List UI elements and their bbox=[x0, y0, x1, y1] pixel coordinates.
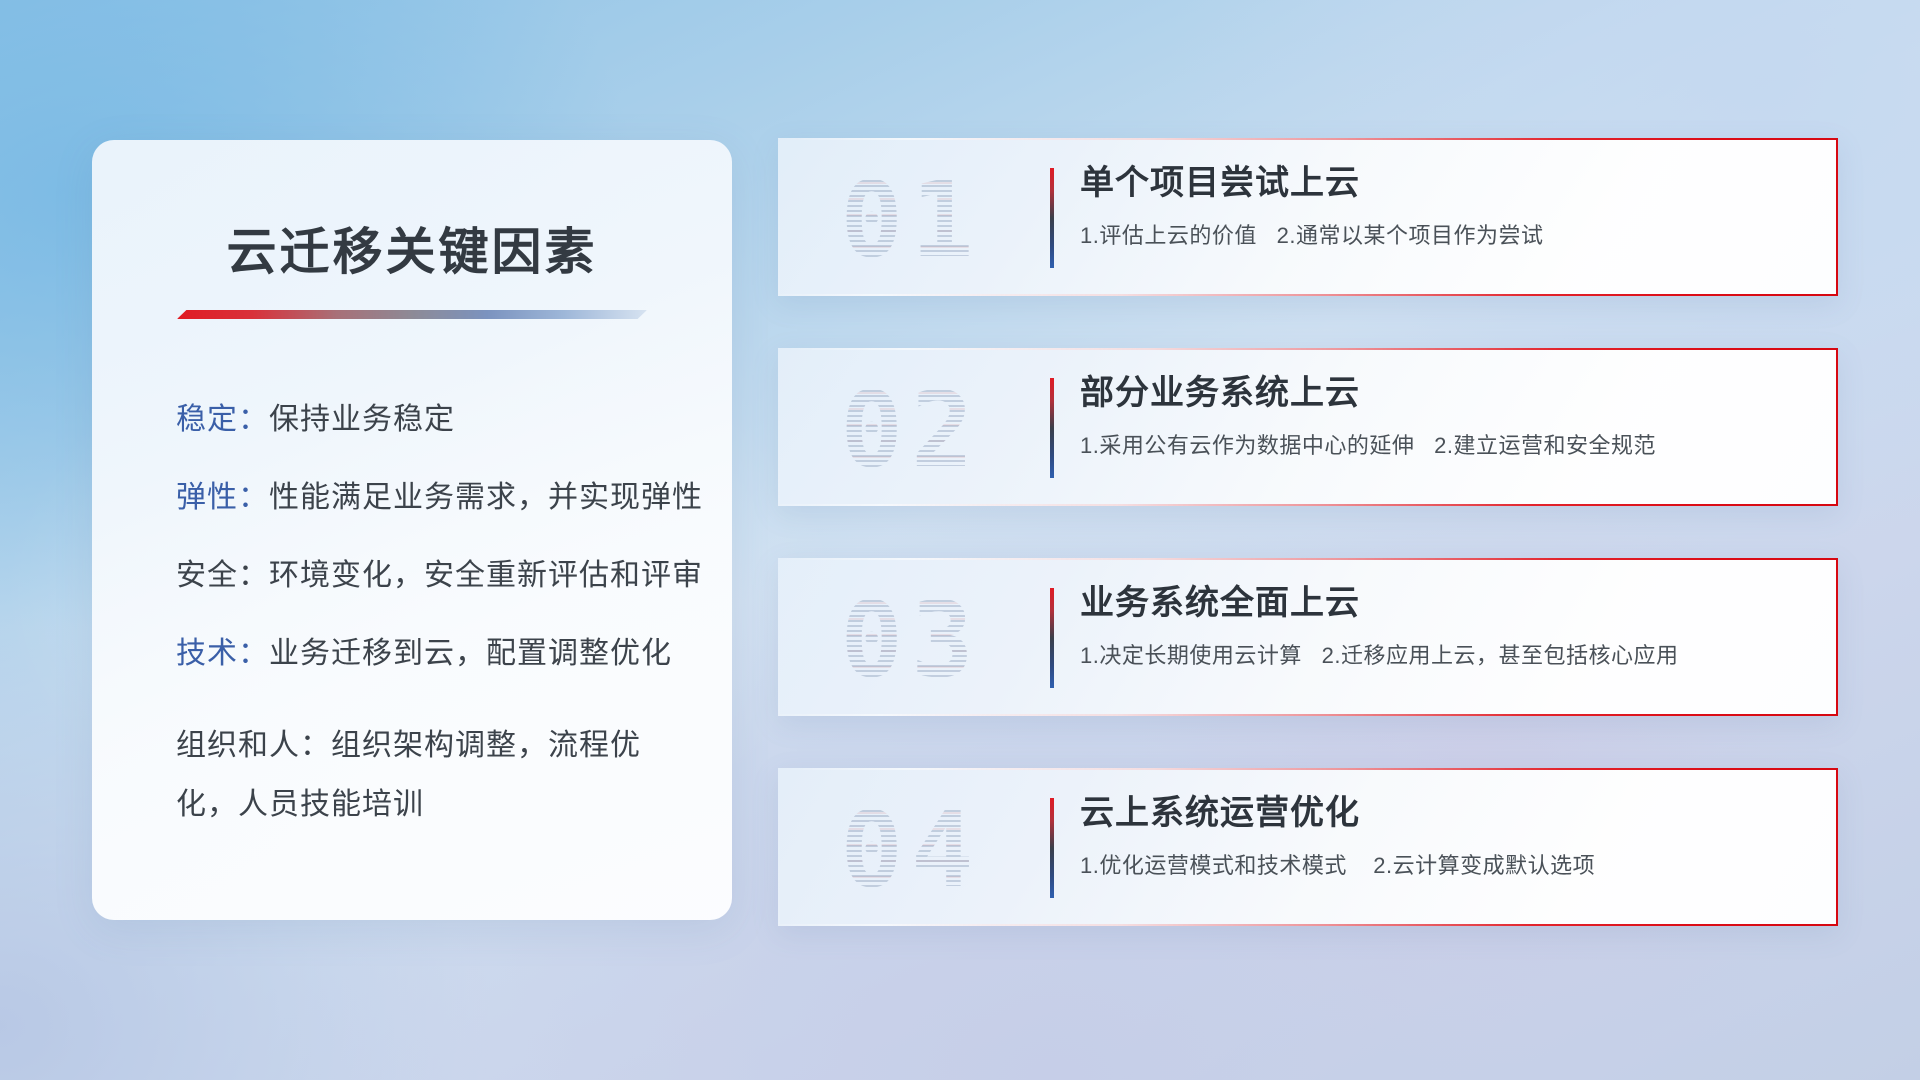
stage-number: 02 bbox=[802, 370, 1020, 490]
divider-accent bbox=[1050, 168, 1054, 268]
factor-label: 组织和人： bbox=[176, 729, 331, 762]
divider-accent bbox=[1050, 588, 1054, 688]
factor-text: 性能满足业务需求，并实现弹性 bbox=[269, 481, 703, 514]
stage-title: 单个项目尝试上云 bbox=[1080, 162, 1802, 205]
factor-label: 安全： bbox=[176, 559, 269, 592]
factor-label: 稳定： bbox=[176, 403, 269, 436]
key-factors-list: 稳定：保持业务稳定 弹性：性能满足业务需求，并实现弹性 安全：环境变化，安全重新… bbox=[144, 405, 680, 834]
factor-text: 业务迁移到云，配置调整优化 bbox=[269, 637, 672, 670]
stage-card[interactable]: 03 03 业务系统全面上云 1.决定长期使用云计算 2.迁移应用上云，甚至包括… bbox=[778, 558, 1838, 716]
stage-number: 03 bbox=[802, 580, 1020, 700]
factor-text: 保持业务稳定 bbox=[269, 403, 455, 436]
page-title: 云迁移关键因素 bbox=[144, 212, 680, 284]
divider-accent bbox=[1050, 798, 1054, 898]
stage-title: 云上系统运营优化 bbox=[1080, 792, 1802, 835]
stage-title: 业务系统全面上云 bbox=[1080, 582, 1802, 625]
migration-stage-cards: 01 01 单个项目尝试上云 1.评估上云的价值 2.通常以某个项目作为尝试 0… bbox=[778, 138, 1838, 978]
title-underline-accent bbox=[177, 310, 647, 319]
list-item: 稳定：保持业务稳定 bbox=[176, 405, 680, 435]
list-item: 弹性：性能满足业务需求，并实现弹性 bbox=[176, 483, 680, 513]
factor-text: 环境变化，安全重新评估和评审 bbox=[269, 559, 703, 592]
stage-card[interactable]: 02 02 部分业务系统上云 1.采用公有云作为数据中心的延伸 2.建立运营和安… bbox=[778, 348, 1838, 506]
stage-card[interactable]: 01 01 单个项目尝试上云 1.评估上云的价值 2.通常以某个项目作为尝试 bbox=[778, 138, 1838, 296]
key-factors-panel: 云迁移关键因素 稳定：保持业务稳定 弹性：性能满足业务需求，并实现弹性 安全：环… bbox=[92, 140, 732, 920]
stage-description: 1.优化运营模式和技术模式 2.云计算变成默认选项 bbox=[1080, 851, 1802, 881]
stage-description: 1.评估上云的价值 2.通常以某个项目作为尝试 bbox=[1080, 221, 1802, 251]
stage-title: 部分业务系统上云 bbox=[1080, 372, 1802, 415]
stage-number: 04 bbox=[802, 790, 1020, 910]
stage-description: 1.采用公有云作为数据中心的延伸 2.建立运营和安全规范 bbox=[1080, 431, 1802, 461]
divider-accent bbox=[1050, 378, 1054, 478]
factor-label: 技术： bbox=[176, 637, 269, 670]
list-item: 组织和人：组织架构调整，流程优化，人员技能培训 bbox=[176, 717, 680, 834]
list-item: 技术：业务迁移到云，配置调整优化 bbox=[176, 639, 680, 669]
list-item: 安全：环境变化，安全重新评估和评审 bbox=[176, 561, 680, 591]
stage-number: 01 bbox=[802, 160, 1020, 280]
stage-card[interactable]: 04 04 云上系统运营优化 1.优化运营模式和技术模式 2.云计算变成默认选项 bbox=[778, 768, 1838, 926]
factor-label: 弹性： bbox=[176, 481, 269, 514]
stage-description: 1.决定长期使用云计算 2.迁移应用上云，甚至包括核心应用 bbox=[1080, 641, 1802, 671]
